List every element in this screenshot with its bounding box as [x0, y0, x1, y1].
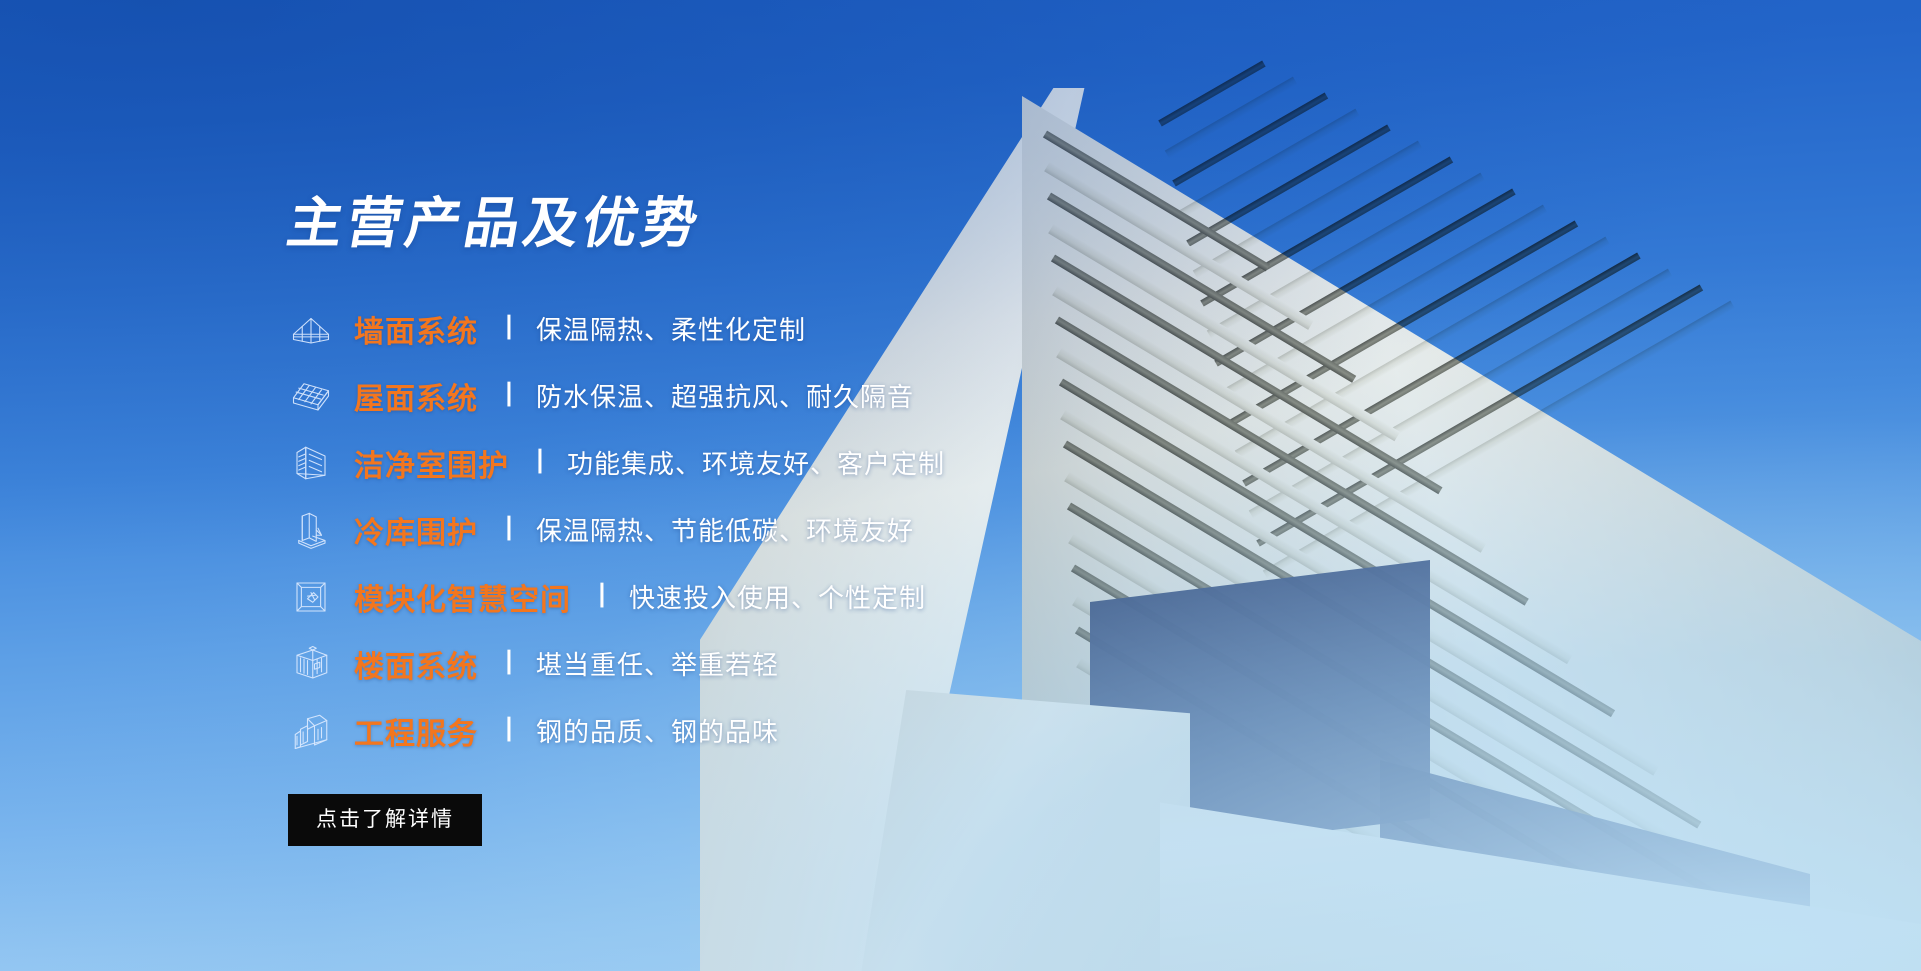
feature-separator: 丨 — [496, 650, 522, 676]
feature-description: 防水保温、超强抗风、耐久隔音 — [536, 377, 914, 414]
feature-title: 屋面系统 — [354, 374, 478, 418]
feature-item[interactable]: 冷库围护丨保温隔热、节能低碳、环境友好 — [288, 496, 1188, 563]
page-title: 主营产品及优势 — [283, 196, 1193, 251]
facade-band — [1256, 284, 1703, 546]
roof-system-icon — [288, 373, 334, 419]
feature-title: 模块化智慧空间 — [354, 575, 571, 619]
facade-band — [1186, 124, 1390, 246]
facade-band — [1072, 596, 1918, 971]
cold-storage-enclosure-icon — [288, 507, 334, 553]
facade-band — [1214, 188, 1515, 366]
cleanroom-enclosure-icon — [288, 440, 334, 486]
feature-item[interactable]: 工程服务丨钢的品质、钢的品味 — [288, 697, 1188, 764]
floor-system-icon — [288, 641, 334, 687]
facade-band — [1207, 173, 1485, 339]
facade-band — [1179, 109, 1360, 219]
feature-item[interactable]: 洁净室围护丨功能集成、环境友好、客户定制 — [288, 429, 1188, 496]
product-advantages-banner: 主营产品及优势 墙面系统丨保温隔热、柔性化定制 屋面系统丨防水保温、超强抗风、耐… — [0, 0, 1921, 971]
feature-separator: 丨 — [496, 717, 522, 743]
facade-band — [1076, 658, 1921, 971]
feature-item[interactable]: 屋面系统丨防水保温、超强抗风、耐久隔音 — [288, 362, 1188, 429]
facade-band — [1158, 60, 1265, 126]
facade-band — [1228, 220, 1578, 426]
feature-item[interactable]: 楼面系统丨堪当重任、举重若轻 — [288, 630, 1188, 697]
banner-content: 主营产品及优势 墙面系统丨保温隔热、柔性化定制 屋面系统丨防水保温、超强抗风、耐… — [288, 196, 1188, 846]
feature-title: 冷库围护 — [354, 508, 478, 552]
feature-item[interactable]: 模块化智慧空间丨快速投入使用、个性定制 — [288, 563, 1188, 630]
facade-band — [1075, 627, 1921, 971]
wall-system-icon — [288, 306, 334, 352]
facade-band — [1242, 252, 1640, 486]
feature-description: 功能集成、环境友好、客户定制 — [567, 444, 945, 481]
feature-separator: 丨 — [589, 583, 615, 609]
feature-separator: 丨 — [496, 382, 522, 408]
feature-description: 堪当重任、举重若轻 — [536, 645, 779, 682]
facade-band — [1071, 565, 1874, 971]
facade-band — [1221, 205, 1548, 399]
facade-band — [1172, 92, 1328, 186]
modular-smart-space-icon — [288, 574, 334, 620]
facade-band — [1263, 301, 1735, 579]
facade-band — [1193, 141, 1423, 279]
podium-front-face — [1160, 740, 1921, 971]
facade-band — [1165, 77, 1298, 159]
learn-more-button[interactable]: 点击了解详情 — [288, 794, 482, 846]
feature-separator: 丨 — [496, 516, 522, 542]
feature-title: 墙面系统 — [354, 307, 478, 351]
feature-separator: 丨 — [496, 315, 522, 341]
feature-list: 墙面系统丨保温隔热、柔性化定制 屋面系统丨防水保温、超强抗风、耐久隔音 洁净室围… — [288, 295, 1188, 764]
feature-description: 快速投入使用、个性定制 — [629, 578, 926, 615]
feature-title: 工程服务 — [354, 709, 478, 753]
facade-band — [1200, 156, 1453, 306]
facade-band — [1235, 237, 1610, 459]
blue-panel-lower — [1380, 700, 1810, 971]
engineering-service-icon — [288, 708, 334, 754]
feature-description: 保温隔热、柔性化定制 — [536, 310, 806, 347]
facade-band — [1249, 269, 1673, 519]
feature-description: 钢的品质、钢的品味 — [536, 712, 779, 749]
feature-separator: 丨 — [527, 449, 553, 475]
feature-title: 楼面系统 — [354, 642, 478, 686]
feature-title: 洁净室围护 — [354, 441, 509, 485]
feature-item[interactable]: 墙面系统丨保温隔热、柔性化定制 — [288, 295, 1188, 362]
feature-description: 保温隔热、节能低碳、环境友好 — [536, 511, 914, 548]
